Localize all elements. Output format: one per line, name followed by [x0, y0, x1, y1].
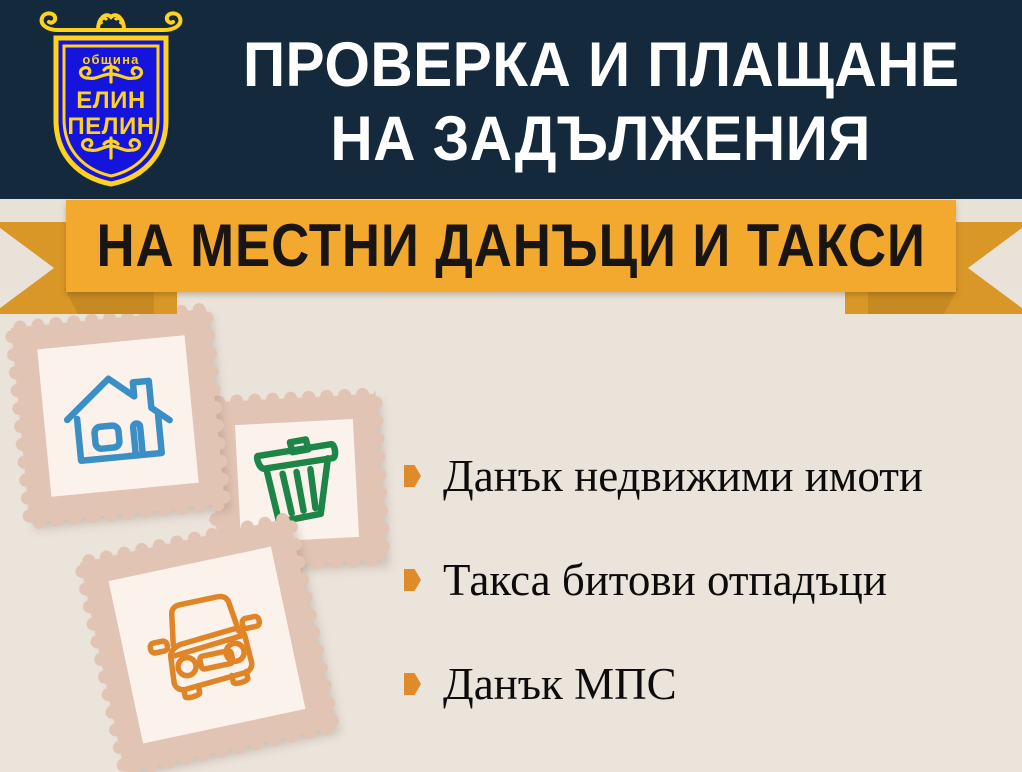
- page-title-line-2: НА ЗАДЪЛЖЕНИЯ: [331, 102, 872, 176]
- subtitle-ribbon: НА МЕСТНИ ДАНЪЦИ И ТАКСИ: [0, 196, 1022, 316]
- page-title: ПРОВЕРКА И ПЛАЩАНЕ НА ЗАДЪЛЖЕНИЯ: [196, 18, 1006, 186]
- stamp-inner-vehicle-tax: [109, 547, 306, 744]
- poster-canvas: община ЕЛИН ПЕЛИН ПРОВЕРКА И П: [0, 0, 1022, 772]
- ribbon-label: НА МЕСТНИ ДАНЪЦИ И ТАКСИ: [96, 216, 925, 276]
- stamp-scallop-right: [367, 393, 394, 560]
- house-icon: [58, 362, 179, 470]
- trash-bin-icon: [251, 431, 344, 531]
- municipality-crest-icon: община ЕЛИН ПЕЛИН: [36, 8, 186, 190]
- crest-name-line1: ЕЛИН: [76, 87, 145, 114]
- ribbon-body: НА МЕСТНИ ДАНЪЦИ И ТАКСИ: [66, 200, 956, 292]
- stamp-scallop-left: [2, 327, 39, 524]
- tax-type-list: Данък недвижими имоти Такса битови отпад…: [404, 424, 1004, 736]
- crest-name-line2: ПЕЛИН: [67, 113, 154, 140]
- list-item-label: Данък МПС: [443, 659, 677, 709]
- list-item-label: Такса битови отпадъци: [443, 555, 887, 605]
- stamp-vehicle-tax: [80, 518, 334, 772]
- list-item[interactable]: Такса битови отпадъци: [404, 528, 1004, 632]
- bullet-arrow-icon: [404, 673, 421, 695]
- list-item[interactable]: Данък МПС: [404, 632, 1004, 736]
- stamp-inner-real-estate: [37, 335, 199, 497]
- stamp-real-estate: [11, 309, 225, 523]
- stamp-inner-household-waste: [235, 419, 359, 543]
- list-item[interactable]: Данък недвижими имоти: [404, 424, 1004, 528]
- car-front-icon: [136, 582, 278, 708]
- bullet-arrow-icon: [404, 465, 421, 487]
- list-item-label: Данък недвижими имоти: [443, 451, 923, 501]
- page-title-line-1: ПРОВЕРКА И ПЛАЩАНЕ: [243, 28, 960, 102]
- bullet-arrow-icon: [404, 569, 421, 591]
